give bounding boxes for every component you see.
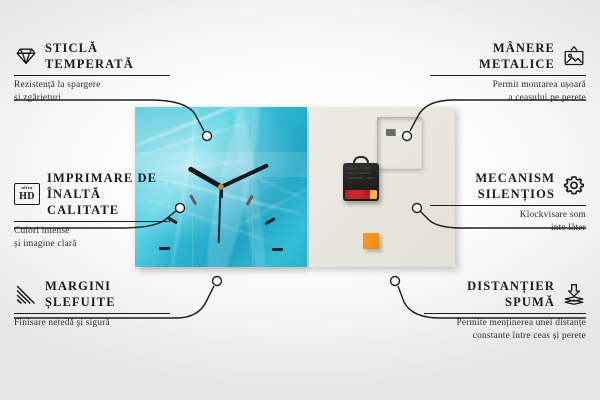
callout-high-quality-print: ultra HD IMPRIMARE DE ÎNALTĂ CALITATE Cu… bbox=[14, 170, 170, 250]
callout-title: IMPRIMARE DE ÎNALTĂ CALITATE bbox=[47, 170, 170, 218]
hanging-loop bbox=[353, 156, 369, 166]
callout-header: MÂNERE METALICE bbox=[430, 40, 586, 72]
clock-mechanism-box bbox=[343, 163, 379, 201]
diamond-icon bbox=[14, 44, 38, 68]
callout-tempered-glass: STICLĂ TEMPERATĂ Rezistență la spargere … bbox=[14, 40, 170, 104]
callout-subtitle: Finisare netedă și sigură bbox=[14, 317, 170, 329]
foam-spacer bbox=[363, 233, 379, 249]
product-image-group bbox=[135, 107, 455, 267]
callout-rule bbox=[424, 313, 586, 314]
callout-header: ultra HD IMPRIMARE DE ÎNALTĂ CALITATE bbox=[14, 170, 170, 218]
gear-icon bbox=[562, 174, 586, 198]
battery bbox=[345, 190, 377, 199]
picture-frame-icon bbox=[562, 44, 586, 68]
hands-center-cap bbox=[218, 184, 224, 190]
callout-subtitle: Culori intense și imagine clară bbox=[14, 225, 170, 250]
callout-rule bbox=[430, 205, 586, 206]
callout-subtitle: Klockvisare som inte låter bbox=[430, 209, 586, 234]
callout-header: STICLĂ TEMPERATĂ bbox=[14, 40, 170, 72]
callout-metal-handles: MÂNERE METALICE Permit montarea ușoară a… bbox=[430, 40, 586, 104]
arrow-onto-pad-icon bbox=[562, 282, 586, 306]
callout-polished-edges: MARGINI ȘLEFUITE Finisare netedă și sigu… bbox=[14, 278, 170, 330]
callout-rule bbox=[14, 75, 170, 76]
callout-foam-spacer: DISTANȚIER SPUMĂ Permite menținerea unei… bbox=[424, 278, 586, 342]
callout-rule bbox=[14, 221, 170, 222]
metal-hanger-plate bbox=[377, 117, 422, 169]
callout-rule bbox=[14, 313, 170, 314]
callout-header: DISTANȚIER SPUMĂ bbox=[424, 278, 586, 310]
beveled-edge-icon bbox=[14, 282, 38, 306]
callout-title: MECANISM SILENȚIOS bbox=[475, 170, 555, 202]
callout-header: MARGINI ȘLEFUITE bbox=[14, 278, 170, 310]
callout-title: DISTANȚIER SPUMĂ bbox=[467, 278, 555, 310]
infographic-stage: STICLĂ TEMPERATĂ Rezistență la spargere … bbox=[0, 0, 600, 400]
callout-subtitle: Permite menținerea unei distanțe constan… bbox=[424, 317, 586, 342]
mechanism-detail bbox=[346, 167, 376, 185]
callout-subtitle: Rezistență la spargere și zgârieturi bbox=[14, 79, 170, 104]
callout-title: MARGINI ȘLEFUITE bbox=[45, 278, 116, 310]
callout-title: MÂNERE METALICE bbox=[479, 40, 555, 72]
callout-subtitle: Permit montarea ușoară a ceasului pe per… bbox=[430, 79, 586, 104]
callout-header: MECANISM SILENȚIOS bbox=[430, 170, 586, 202]
callout-title: STICLĂ TEMPERATĂ bbox=[45, 40, 134, 72]
keyhole-slot bbox=[386, 129, 412, 136]
callout-silent-mechanism: MECANISM SILENȚIOS Klockvisare som inte … bbox=[430, 170, 586, 234]
ultra-hd-icon: ultra HD bbox=[14, 183, 40, 205]
callout-rule bbox=[430, 75, 586, 76]
